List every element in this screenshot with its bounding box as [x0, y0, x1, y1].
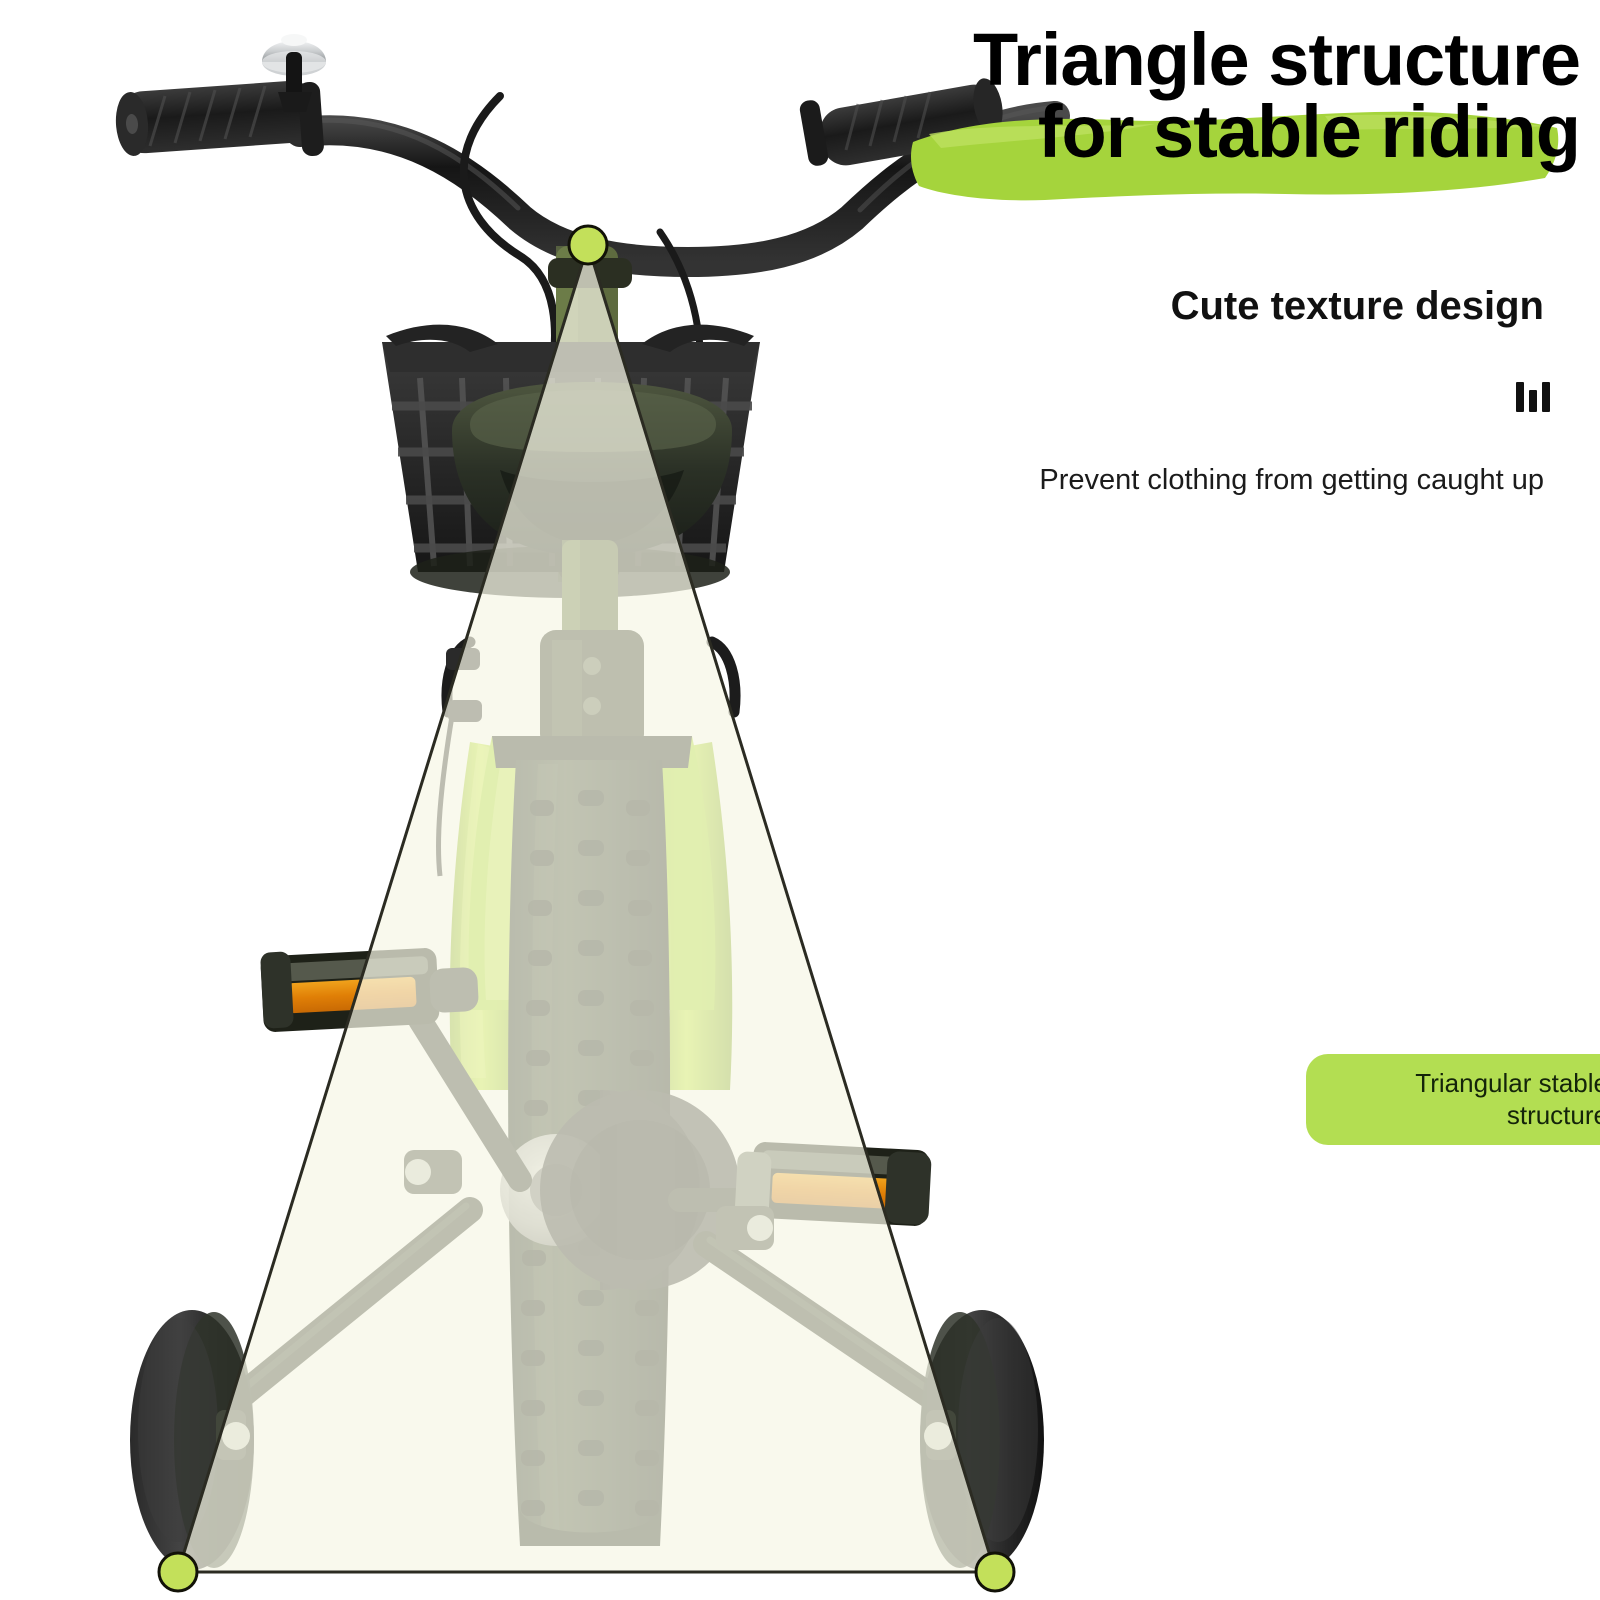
product-photo — [0, 0, 1600, 1600]
bar-3 — [1542, 382, 1550, 412]
training-wheel-arm-left — [236, 1150, 470, 1400]
badge-label: Triangular stablestructure — [1415, 1068, 1600, 1131]
training-wheel-right — [920, 1310, 1044, 1570]
pedal-left — [260, 947, 479, 1032]
product-feature-image: Triangle structure for stable riding Cut… — [0, 0, 1600, 1600]
bar-1 — [1516, 382, 1524, 412]
badge-line-2: structure — [1507, 1100, 1600, 1130]
headline-line-1: Triangle structure — [700, 24, 1580, 96]
subheading: Cute texture design — [1171, 284, 1544, 329]
badge-line-1: Triangular stable — [1415, 1068, 1600, 1098]
bicycle-illustration — [0, 0, 1600, 1600]
bar-2 — [1529, 390, 1537, 412]
three-bars-icon — [1516, 378, 1550, 412]
headline: Triangle structure for stable riding — [700, 24, 1580, 168]
headline-line-2: for stable riding — [700, 96, 1580, 168]
training-wheel-arm-right — [706, 1206, 936, 1400]
training-wheel-left — [130, 1310, 254, 1570]
status-badge: Triangular stablestructure — [1306, 1054, 1600, 1145]
feature-caption: Prevent clothing from getting caught up — [1039, 464, 1544, 497]
